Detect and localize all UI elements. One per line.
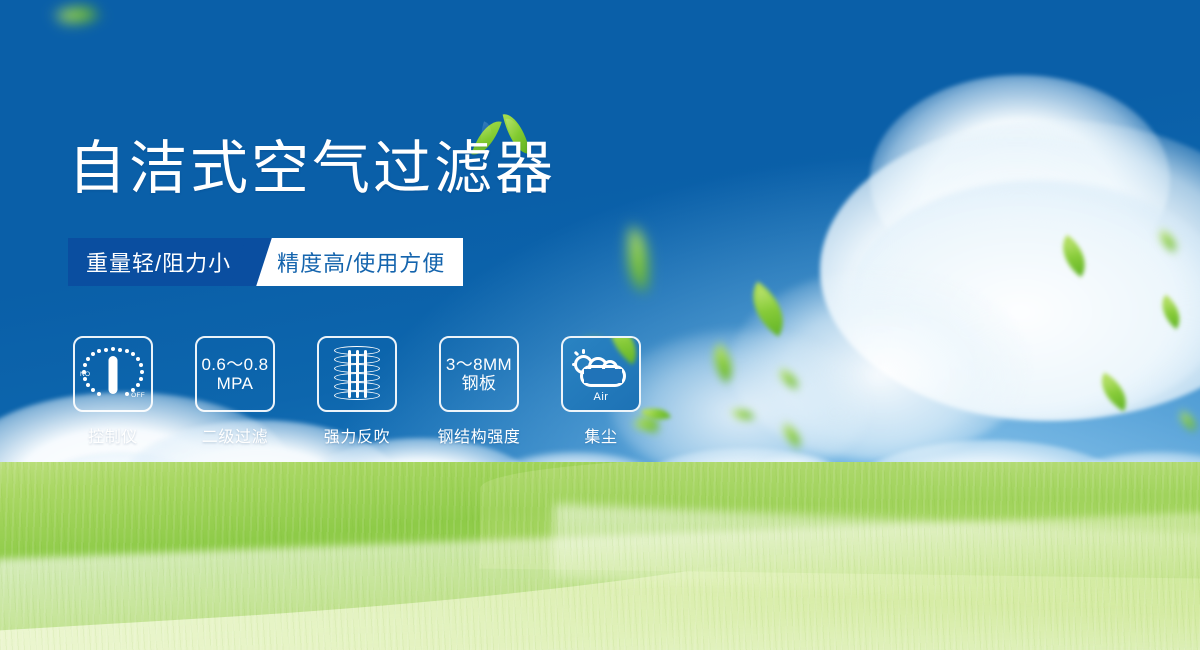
feature-label: 集尘 [584, 423, 617, 447]
steel-thickness: 3～8MM [446, 355, 512, 374]
pressure-icon: 0.6～0.8 MPA [201, 355, 268, 393]
steel-material: 钢板 [462, 374, 497, 393]
feature-item-dust[interactable]: Air 集尘 [558, 336, 644, 447]
feature-item-steel[interactable]: 3～8MM 钢板 钢结构强度 [436, 336, 522, 447]
cloud-merge-mask [584, 369, 622, 383]
cloud-air-icon: Air [572, 349, 630, 399]
feature-icon-box: 3～8MM 钢板 [439, 336, 519, 412]
pressure-value: 0.6～0.8 [201, 355, 268, 374]
feature-icon-box [317, 336, 397, 412]
steel-icon: 3～8MM 钢板 [446, 355, 512, 393]
feature-item-controller[interactable]: NO OFF 控制仪 [70, 336, 156, 447]
feature-label: 强力反吹 [324, 423, 390, 447]
feature-icon-box: Air [561, 336, 641, 412]
promo-banner: 自洁式空气过滤器 重量轻/阻力小 精度高/使用方便 [0, 0, 1200, 650]
page-title: 自洁式空气过滤器 [68, 140, 556, 198]
badge-primary: 重量轻/阻力小 [68, 238, 251, 286]
feature-icon-box: 0.6～0.8 MPA [195, 336, 275, 412]
gauge-label-off: OFF [131, 392, 145, 399]
banner-content: 自洁式空气过滤器 重量轻/阻力小 精度高/使用方便 [0, 0, 1200, 650]
subtitle-badges: 重量轻/阻力小 精度高/使用方便 [68, 238, 463, 286]
feature-label: 控制仪 [88, 423, 138, 447]
badge-secondary: 精度高/使用方便 [251, 238, 463, 286]
feature-list: NO OFF 控制仪 0.6～0.8 MPA 二级过滤 [70, 336, 644, 447]
gauge-needle-icon [109, 356, 118, 394]
feature-label: 钢结构强度 [437, 423, 520, 447]
gauge-icon: NO OFF [82, 345, 144, 403]
gauge-label-no: NO [80, 371, 90, 378]
coil-icon [334, 346, 380, 402]
feature-label: 二级过滤 [202, 423, 268, 447]
air-label: Air [572, 391, 630, 403]
pressure-unit: MPA [217, 374, 254, 393]
feature-icon-box: NO OFF [73, 336, 153, 412]
feature-item-filter[interactable]: 0.6～0.8 MPA 二级过滤 [192, 336, 278, 447]
feature-item-blowback[interactable]: 强力反吹 [314, 336, 400, 447]
